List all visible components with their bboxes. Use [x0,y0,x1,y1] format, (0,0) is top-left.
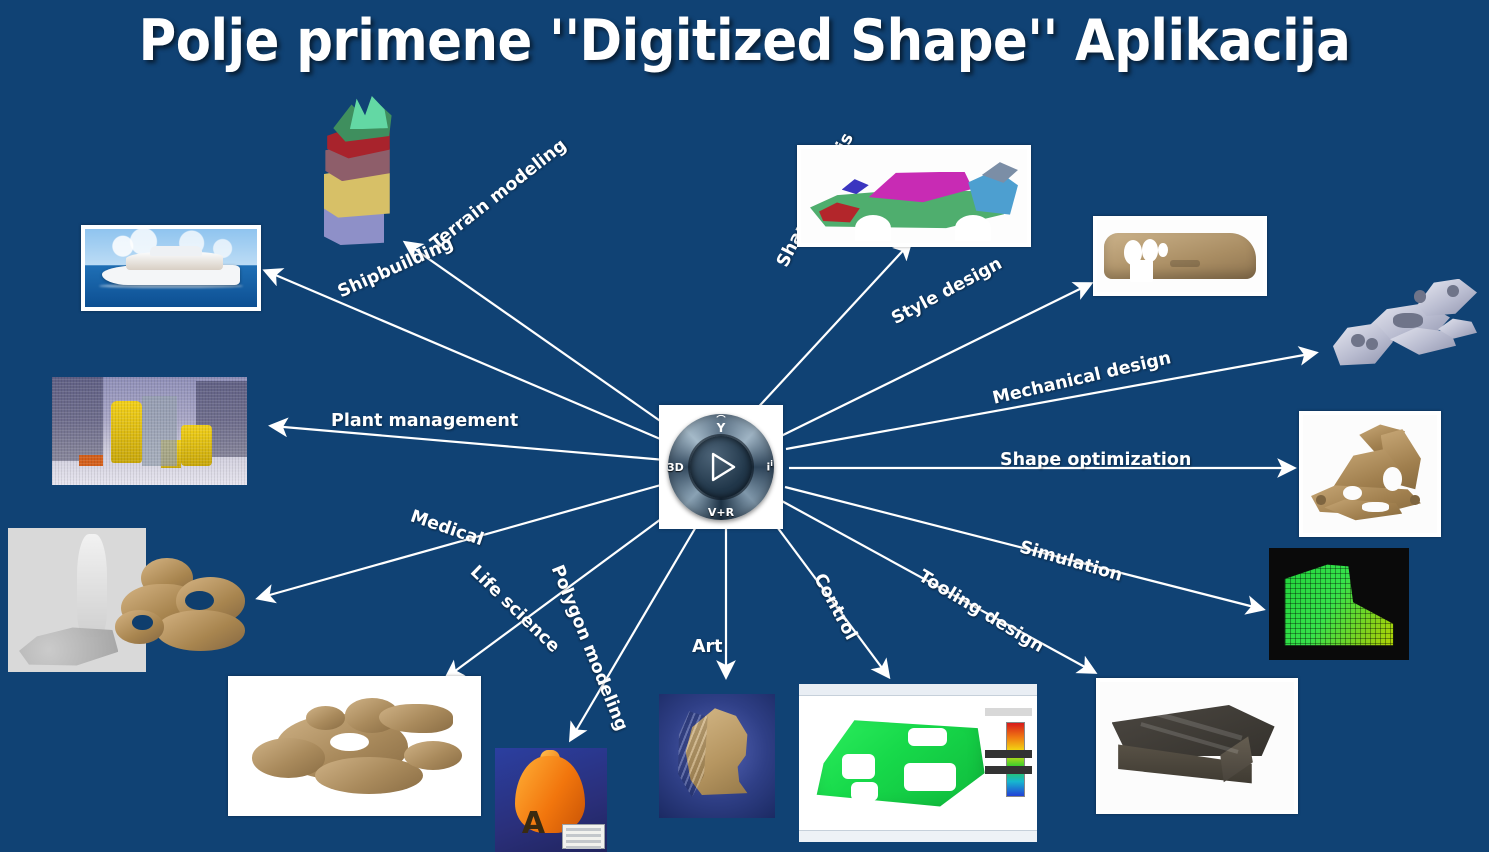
optimized-bracket-image [1303,415,1437,533]
mechanical-design-thumbnail[interactable] [1330,275,1480,370]
digitized-shape-hub[interactable]: ⌒Y 3D ii V+R [659,405,783,529]
relief-portrait-image [659,694,775,818]
inspection-window-image [799,684,1037,842]
die-block-image [1100,682,1294,810]
polygon-modeling-thumbnail[interactable]: A [495,748,607,852]
play-icon[interactable] [710,452,736,482]
spoke-label-mechanical-design: Mechanical design [991,348,1173,409]
metal-bracket-image [1330,275,1480,370]
spoke-label-tooling-design: Tooling design [915,566,1047,657]
antenna-wifi-icon: ⌒Y [716,414,725,434]
medical-vertebra-overlay[interactable] [112,548,257,668]
page-title: Polje primene ''Digitized Shape'' Aplika… [0,8,1489,74]
vertebra-model-image [112,548,257,668]
arrow-shape-analysis [752,243,910,414]
spoke-label-simulation: Simulation [1017,537,1124,585]
app-titlebar [799,684,1037,696]
art-thumbnail[interactable] [659,694,775,818]
hub-label-vr[interactable]: V+R [708,506,734,519]
shipbuilding-thumbnail[interactable] [81,225,261,311]
simulation-thumbnail[interactable] [1269,548,1409,660]
plant-management-thumbnail[interactable] [52,377,247,485]
shape-analysis-thumbnail[interactable] [797,145,1031,247]
spoke-label-control: Control [809,570,861,643]
hub-label-i-sup: i [770,459,773,468]
terrain-block-image [318,96,410,248]
cruise-ship-photo [85,229,257,307]
fea-mesh-image [1269,548,1409,660]
arrow-terrain-modeling [406,243,676,432]
car-body-patches-image [801,149,1027,243]
tooling-design-thumbnail[interactable] [1096,678,1298,814]
orange-vase-app-image: A [495,748,607,852]
life-science-thumbnail[interactable] [228,676,481,816]
arrow-plant-management [272,426,665,460]
spoke-label-shape-optimization: Shape optimization [1000,450,1191,470]
bone-blob-image [232,680,477,812]
app-statusbar [799,830,1037,842]
control-thumbnail[interactable] [799,684,1037,842]
terrain-modeling-thumbnail[interactable] [318,96,410,248]
spoke-label-style-design: Style design [888,254,1005,329]
plant-point-cloud-image [52,377,247,485]
style-design-thumbnail[interactable] [1093,216,1267,296]
deviation-legend [1006,722,1025,797]
slide-canvas: Polje primene ''Digitized Shape'' Aplika… [0,0,1489,852]
hub-label-3d[interactable]: 3D [667,461,684,474]
spoke-label-polygon-modeling: Polygon modeling [547,562,632,734]
spoke-label-medical: Medical [408,507,486,551]
hub-label-i[interactable]: ii [766,459,773,474]
spoke-label-plant-management: Plant management [331,411,518,431]
shape-optimization-thumbnail[interactable] [1299,411,1441,537]
arrow-mechanical-design [786,353,1315,449]
car-dashboard-image [1097,220,1263,292]
spoke-label-art: Art [692,637,723,657]
